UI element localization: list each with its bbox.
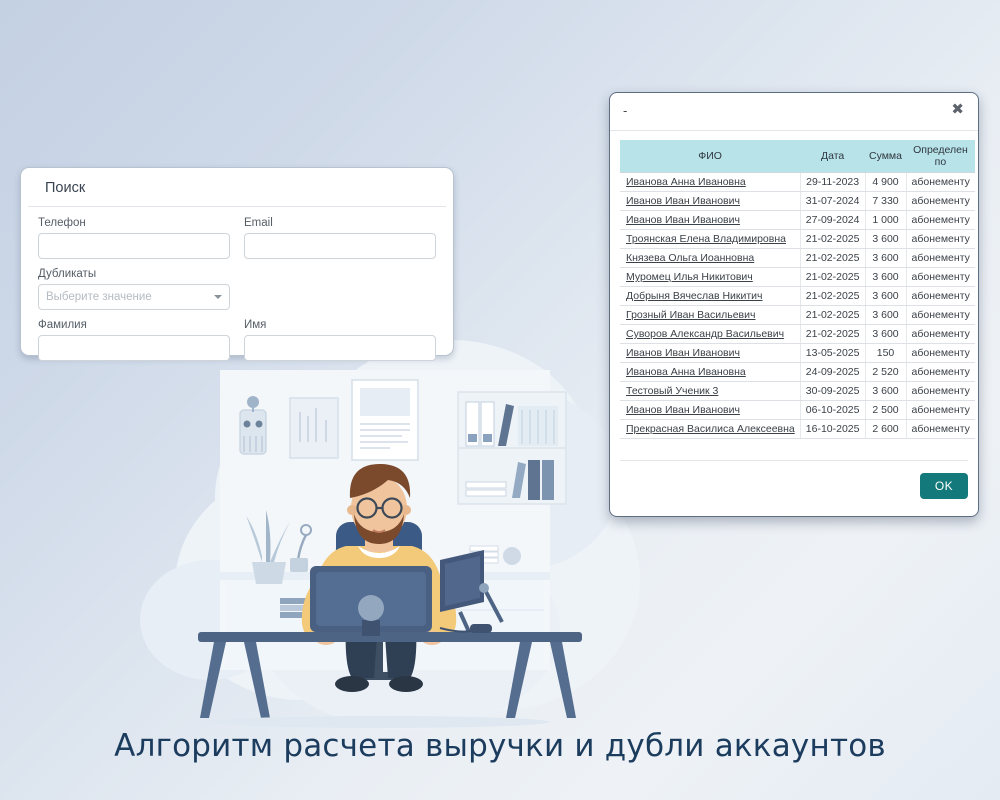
cell-determined-by: абонементу	[906, 268, 975, 287]
cell-fio: Муромец Илья Никитович	[620, 268, 800, 287]
page-title: Алгоритм расчета выручки и дубли аккаунт…	[0, 728, 1000, 764]
chevron-down-icon[interactable]	[214, 295, 222, 299]
field-row-name: Фамилия Имя	[38, 319, 436, 361]
modal-body: ФИО Дата Сумма Определен по Иванова Анна…	[610, 131, 978, 460]
fio-link[interactable]: Прекрасная Василиса Алексеевна	[626, 423, 795, 435]
cell-sum: 7 330	[865, 192, 906, 211]
field-phone: Телефон	[38, 217, 230, 259]
cell-determined-by: абонементу	[906, 287, 975, 306]
column-header-fio[interactable]: ФИО	[620, 140, 800, 173]
search-form: Телефон Email Дубликаты Выберите значени…	[21, 207, 453, 361]
cell-fio: Иванова Анна Ивановна	[620, 363, 800, 382]
table-row: Прекрасная Василиса Алексеевна16-10-2025…	[620, 420, 975, 439]
lastname-input[interactable]	[38, 335, 230, 361]
duplicates-select[interactable]: Выберите значение	[38, 284, 230, 310]
column-header-determined-by[interactable]: Определен по	[906, 140, 975, 173]
cell-sum: 3 600	[865, 382, 906, 401]
cell-fio: Иванов Иван Иванович	[620, 401, 800, 420]
cell-determined-by: абонементу	[906, 211, 975, 230]
fio-link[interactable]: Муромец Илья Никитович	[626, 271, 753, 283]
cell-sum: 3 600	[865, 268, 906, 287]
table-row: Тестовый Ученик 330-09-20253 600абонемен…	[620, 382, 975, 401]
duplicates-label: Дубликаты	[38, 268, 230, 280]
fio-link[interactable]: Иванова Анна Ивановна	[626, 176, 746, 188]
fio-link[interactable]: Добрыня Вячеслав Никитич	[626, 290, 763, 302]
fio-link[interactable]: Иванов Иван Иванович	[626, 404, 740, 416]
cell-sum: 3 600	[865, 325, 906, 344]
fio-link[interactable]: Иванов Иван Иванович	[626, 347, 740, 359]
fio-link[interactable]: Иванова Анна Ивановна	[626, 366, 746, 378]
cell-date: 29-11-2023	[800, 173, 865, 192]
results-modal-dialog: - ✖ ФИО Дата Сумма Определен по Иванова …	[609, 92, 979, 517]
cell-determined-by: абонементу	[906, 173, 975, 192]
field-row-contact: Телефон Email	[38, 217, 436, 259]
cell-determined-by: абонементу	[906, 306, 975, 325]
cell-fio: Иванов Иван Иванович	[620, 344, 800, 363]
cell-date: 21-02-2025	[800, 287, 865, 306]
cell-sum: 3 600	[865, 230, 906, 249]
cell-determined-by: абонементу	[906, 382, 975, 401]
results-table-head: ФИО Дата Сумма Определен по	[620, 140, 975, 173]
cell-date: 24-09-2025	[800, 363, 865, 382]
column-header-sum[interactable]: Сумма	[865, 140, 906, 173]
cell-fio: Князева Ольга Иоанновна	[620, 249, 800, 268]
cell-determined-by: абонементу	[906, 401, 975, 420]
cell-sum: 1 000	[865, 211, 906, 230]
table-row: Добрыня Вячеслав Никитич21-02-20253 600а…	[620, 287, 975, 306]
table-header-row: ФИО Дата Сумма Определен по	[620, 140, 975, 173]
fio-link[interactable]: Тестовый Ученик 3	[626, 385, 718, 397]
fio-link[interactable]: Грозный Иван Васильевич	[626, 309, 755, 321]
phone-label: Телефон	[38, 217, 230, 229]
cell-sum: 3 600	[865, 249, 906, 268]
cell-determined-by: абонементу	[906, 249, 975, 268]
cell-date: 21-02-2025	[800, 325, 865, 344]
table-row: Грозный Иван Васильевич21-02-20253 600аб…	[620, 306, 975, 325]
table-row: Муромец Илья Никитович21-02-20253 600або…	[620, 268, 975, 287]
cell-sum: 4 900	[865, 173, 906, 192]
cell-date: 21-02-2025	[800, 249, 865, 268]
cell-fio: Иванова Анна Ивановна	[620, 173, 800, 192]
phone-input[interactable]	[38, 233, 230, 259]
field-email: Email	[244, 217, 436, 259]
cell-fio: Тестовый Ученик 3	[620, 382, 800, 401]
table-row: Суворов Александр Васильевич21-02-20253 …	[620, 325, 975, 344]
ok-button[interactable]: OK	[920, 473, 968, 499]
cell-date: 21-02-2025	[800, 306, 865, 325]
cell-determined-by: абонементу	[906, 344, 975, 363]
cell-date: 16-10-2025	[800, 420, 865, 439]
email-label: Email	[244, 217, 436, 229]
fio-link[interactable]: Князева Ольга Иоанновна	[626, 252, 754, 264]
table-row: Иванов Иван Иванович27-09-20241 000абоне…	[620, 211, 975, 230]
fio-link[interactable]: Иванов Иван Иванович	[626, 195, 740, 207]
table-row: Иванова Анна Ивановна29-11-20234 900абон…	[620, 173, 975, 192]
field-spacer	[244, 268, 436, 310]
results-table: ФИО Дата Сумма Определен по Иванова Анна…	[620, 140, 975, 439]
table-row: Князева Ольга Иоанновна21-02-20253 600аб…	[620, 249, 975, 268]
duplicates-select-wrapper: Выберите значение	[38, 284, 230, 310]
cell-determined-by: абонементу	[906, 230, 975, 249]
cell-fio: Грозный Иван Васильевич	[620, 306, 800, 325]
field-lastname: Фамилия	[38, 319, 230, 361]
cell-sum: 150	[865, 344, 906, 363]
cell-determined-by: абонементу	[906, 363, 975, 382]
cell-date: 30-09-2025	[800, 382, 865, 401]
cell-sum: 3 600	[865, 306, 906, 325]
firstname-input[interactable]	[244, 335, 436, 361]
search-panel-title: Поиск	[28, 168, 446, 207]
cell-sum: 2 500	[865, 401, 906, 420]
cell-fio: Суворов Александр Васильевич	[620, 325, 800, 344]
fio-link[interactable]: Суворов Александр Васильевич	[626, 328, 784, 340]
cell-determined-by: абонементу	[906, 420, 975, 439]
cell-fio: Иванов Иван Иванович	[620, 211, 800, 230]
results-table-body: Иванова Анна Ивановна29-11-20234 900абон…	[620, 173, 975, 439]
modal-footer: OK	[620, 460, 968, 516]
table-row: Иванов Иван Иванович13-05-2025150абонеме…	[620, 344, 975, 363]
man-at-desk-illustration	[140, 350, 640, 740]
cell-determined-by: абонементу	[906, 192, 975, 211]
lastname-label: Фамилия	[38, 319, 230, 331]
cell-sum: 2 600	[865, 420, 906, 439]
cell-date: 13-05-2025	[800, 344, 865, 363]
search-panel: Поиск Телефон Email Дубликаты Выберите з…	[20, 167, 454, 356]
table-row: Троянская Елена Владимировна21-02-20253 …	[620, 230, 975, 249]
fio-link[interactable]: Троянская Елена Владимировна	[626, 233, 786, 245]
cell-date: 06-10-2025	[800, 401, 865, 420]
cell-sum: 3 600	[865, 287, 906, 306]
cell-date: 21-02-2025	[800, 230, 865, 249]
cell-date: 21-02-2025	[800, 268, 865, 287]
modal-title: -	[623, 103, 627, 118]
screenshot-canvas: Поиск Телефон Email Дубликаты Выберите з…	[0, 0, 1000, 800]
table-row: Иванов Иван Иванович06-10-20252 500абоне…	[620, 401, 975, 420]
close-icon[interactable]: ✖	[948, 100, 967, 119]
cell-determined-by: абонементу	[906, 325, 975, 344]
cell-fio: Иванов Иван Иванович	[620, 192, 800, 211]
cell-date: 31-07-2024	[800, 192, 865, 211]
modal-header: - ✖	[610, 93, 978, 131]
cell-sum: 2 520	[865, 363, 906, 382]
fio-link[interactable]: Иванов Иван Иванович	[626, 214, 740, 226]
table-row: Иванов Иван Иванович31-07-20247 330абоне…	[620, 192, 975, 211]
cell-fio: Прекрасная Василиса Алексеевна	[620, 420, 800, 439]
email-input[interactable]	[244, 233, 436, 259]
cell-fio: Троянская Елена Владимировна	[620, 230, 800, 249]
firstname-label: Имя	[244, 319, 436, 331]
cell-date: 27-09-2024	[800, 211, 865, 230]
field-firstname: Имя	[244, 319, 436, 361]
table-row: Иванова Анна Ивановна24-09-20252 520абон…	[620, 363, 975, 382]
cell-fio: Добрыня Вячеслав Никитич	[620, 287, 800, 306]
field-duplicates: Дубликаты Выберите значение	[38, 268, 230, 310]
column-header-date[interactable]: Дата	[800, 140, 865, 173]
field-row-duplicates: Дубликаты Выберите значение	[38, 268, 436, 310]
